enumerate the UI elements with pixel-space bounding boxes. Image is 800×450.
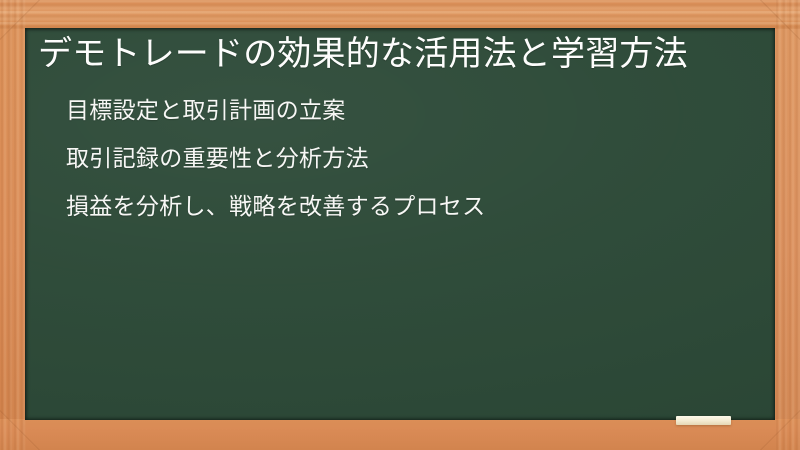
page-title: デモトレードの効果的な活用法と学習方法 [33,32,738,77]
frame-rail-top [0,0,800,29]
list-item: 損益を分析し、戦略を改善するプロセス [66,193,757,221]
chalkboard-slide: デモトレードの効果的な活用法と学習方法 目標設定と取引計画の立案 取引記録の重要… [0,0,800,450]
frame-stile-right [775,0,800,450]
chalk-stick-icon [676,416,731,425]
list-item: 目標設定と取引計画の立案 [66,97,757,125]
bullet-list: 目標設定と取引計画の立案 取引記録の重要性と分析方法 損益を分析し、戦略を改善す… [33,97,757,221]
list-item: 取引記録の重要性と分析方法 [66,145,757,173]
frame-stile-left [0,0,26,450]
slide-content: デモトレードの効果的な活用法と学習方法 目標設定と取引計画の立案 取引記録の重要… [25,28,775,420]
